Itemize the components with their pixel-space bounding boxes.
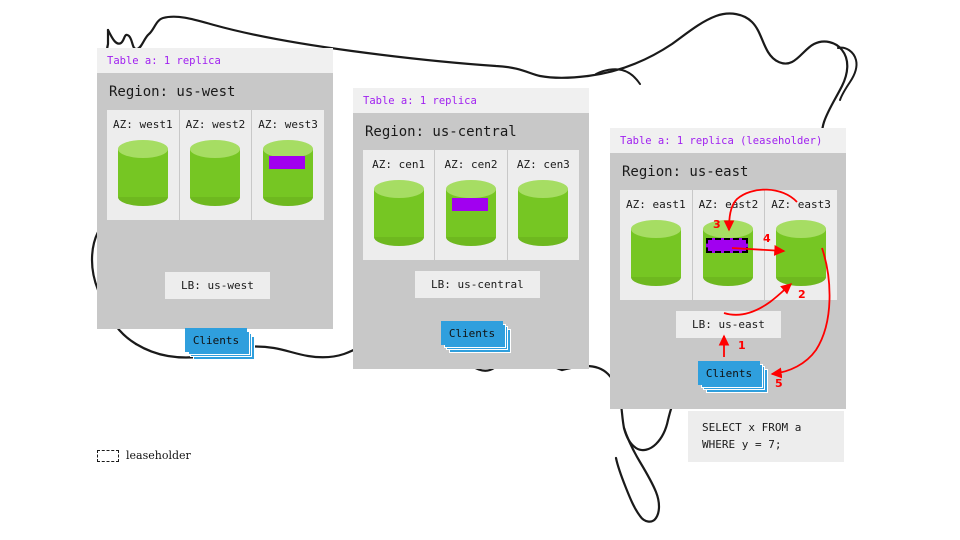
az-label-east2: AZ: east2 bbox=[699, 198, 759, 211]
diagram-canvas: Table a: 1 replica Region: us-west AZ: w… bbox=[0, 0, 960, 540]
clients-label-us-central[interactable]: Clients bbox=[441, 321, 503, 345]
az-cell-cen1[interactable]: AZ: cen1 bbox=[363, 150, 435, 260]
cylinder-top bbox=[374, 180, 424, 198]
clients-label-us-west[interactable]: Clients bbox=[185, 328, 247, 352]
cylinder-top bbox=[776, 220, 826, 238]
step-number-2: 2 bbox=[798, 288, 806, 301]
legend: leaseholder bbox=[97, 449, 191, 462]
load-balancer-us-east[interactable]: LB: us-east bbox=[676, 311, 781, 338]
clients-stack-us-west[interactable]: Clients bbox=[185, 328, 247, 352]
cylinder-top bbox=[118, 140, 168, 158]
az-label-cen2: AZ: cen2 bbox=[445, 158, 498, 171]
replica-range-chip-west3 bbox=[269, 156, 305, 169]
az-cell-cen3[interactable]: AZ: cen3 bbox=[508, 150, 579, 260]
az-row-us-central: AZ: cen1 AZ: cen2 bbox=[363, 150, 579, 260]
clients-label-us-east[interactable]: Clients bbox=[698, 361, 760, 385]
replica-cylinder-east3[interactable] bbox=[776, 220, 826, 286]
sql-query-box: SELECT x FROM a WHERE y = 7; bbox=[688, 411, 844, 462]
az-cell-east1[interactable]: AZ: east1 bbox=[620, 190, 693, 300]
region-panel-us-west: Table a: 1 replica Region: us-west AZ: w… bbox=[97, 48, 333, 329]
load-balancer-us-west[interactable]: LB: us-west bbox=[165, 272, 270, 299]
clients-stack-us-central[interactable]: Clients bbox=[441, 321, 503, 345]
az-label-west2: AZ: west2 bbox=[186, 118, 246, 131]
table-replica-label-us-central: Table a: 1 replica bbox=[353, 88, 589, 113]
az-cell-west3[interactable]: AZ: west3 bbox=[252, 110, 324, 220]
cylinder-top bbox=[446, 180, 496, 198]
az-cell-cen2[interactable]: AZ: cen2 bbox=[435, 150, 507, 260]
az-cell-east3[interactable]: AZ: east3 bbox=[765, 190, 837, 300]
replica-cylinder-cen3[interactable] bbox=[518, 180, 568, 246]
replica-cylinder-east2[interactable] bbox=[703, 220, 753, 286]
az-row-us-east: AZ: east1 AZ: east2 bbox=[620, 190, 836, 300]
az-row-us-west: AZ: west1 AZ: west2 AZ bbox=[107, 110, 323, 220]
az-label-east1: AZ: east1 bbox=[626, 198, 686, 211]
clients-stack-us-east[interactable]: Clients bbox=[698, 361, 760, 385]
region-panel-us-east: Table a: 1 replica (leaseholder) Region:… bbox=[610, 128, 846, 409]
load-balancer-us-central[interactable]: LB: us-central bbox=[415, 271, 540, 298]
region-title-us-west: Region: us-west bbox=[107, 73, 323, 110]
cylinder-top bbox=[631, 220, 681, 238]
region-title-us-east: Region: us-east bbox=[620, 153, 836, 190]
replica-cylinder-west3[interactable] bbox=[263, 140, 313, 206]
table-replica-label-us-east: Table a: 1 replica (leaseholder) bbox=[610, 128, 846, 153]
legend-label: leaseholder bbox=[126, 449, 191, 462]
az-label-cen1: AZ: cen1 bbox=[372, 158, 425, 171]
dashed-rect-icon bbox=[97, 450, 119, 462]
step-number-1: 1 bbox=[738, 339, 746, 352]
replica-cylinder-cen1[interactable] bbox=[374, 180, 424, 246]
region-panel-us-central: Table a: 1 replica Region: us-central AZ… bbox=[353, 88, 589, 369]
az-label-west1: AZ: west1 bbox=[113, 118, 173, 131]
az-cell-west2[interactable]: AZ: west2 bbox=[180, 110, 253, 220]
az-label-east3: AZ: east3 bbox=[771, 198, 831, 211]
az-label-west3: AZ: west3 bbox=[258, 118, 318, 131]
cylinder-top bbox=[518, 180, 568, 198]
leaseholder-chip-east2 bbox=[706, 238, 748, 253]
az-cell-west1[interactable]: AZ: west1 bbox=[107, 110, 180, 220]
region-title-us-central: Region: us-central bbox=[363, 113, 579, 150]
az-cell-east2[interactable]: AZ: east2 bbox=[693, 190, 766, 300]
replica-cylinder-cen2[interactable] bbox=[446, 180, 496, 246]
replica-cylinder-west2[interactable] bbox=[190, 140, 240, 206]
replica-cylinder-west1[interactable] bbox=[118, 140, 168, 206]
step-number-5: 5 bbox=[775, 377, 783, 390]
replica-range-chip-cen2 bbox=[452, 198, 488, 211]
step-number-3: 3 bbox=[713, 218, 721, 231]
az-label-cen3: AZ: cen3 bbox=[517, 158, 570, 171]
replica-cylinder-east1[interactable] bbox=[631, 220, 681, 286]
step-number-4: 4 bbox=[763, 232, 771, 245]
table-replica-label-us-west: Table a: 1 replica bbox=[97, 48, 333, 73]
